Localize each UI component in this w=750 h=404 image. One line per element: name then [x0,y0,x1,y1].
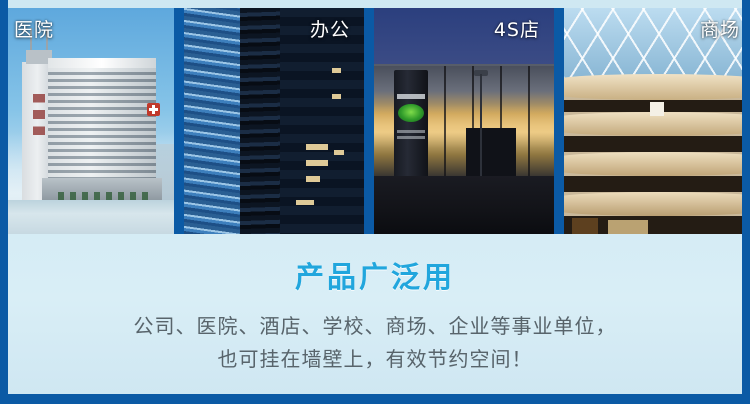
frame-rail-bottom [0,394,750,404]
frame-rail-left [0,0,8,404]
scenario-gallery: 医院 办公 [0,8,750,234]
gallery-panel-hospital[interactable]: 医院 [0,8,174,234]
gallery-panel-mall[interactable]: 商场 [564,8,750,234]
panel-label-hospital: 医院 [14,18,54,42]
hanging-sign-icon [650,102,664,116]
panel-divider [364,8,374,234]
promo-body-line-1: 公司、医院、酒店、学校、商场、企业等事业单位， [134,314,617,338]
balcony-band [564,192,750,216]
hospital-slab-cap [48,58,156,68]
lit-window-icon [306,176,320,182]
panel-divider [554,8,564,234]
brand-oval-logo-icon [398,104,424,122]
red-cross-icon [147,103,160,116]
balcony-band [564,74,750,100]
gallery-panel-dealership[interactable]: 4S店 [374,8,554,234]
lit-window-icon [306,160,328,166]
lit-window-icon [334,150,344,155]
panel-label-dealership: 4S店 [494,18,540,42]
promo-body-line-2: 也可挂在墙壁上，有效节约空间！ [218,347,533,371]
waterfront-layer [0,200,174,234]
forecourt-ground [374,176,554,234]
product-application-banner: 医院 办公 [0,0,750,404]
lit-window-icon [332,94,341,99]
panel-divider [174,8,184,234]
storefront-band [564,176,750,192]
brand-subtext-icon [397,130,425,142]
promo-content-area: 产品广泛用 公司、医院、酒店、学校、商场、企业等事业单位， 也可挂在墙壁上，有效… [8,234,742,394]
facade-mullion [444,66,446,180]
panel-label-office: 办公 [310,18,350,42]
facade-mullion [528,66,530,180]
lit-window-icon [296,200,314,205]
glass-facade-left [184,8,246,234]
brand-wordmark-icon [397,94,425,99]
street-lamp-pole-icon [480,74,482,190]
showroom-entrance [466,128,516,180]
lit-window-icon [306,144,328,150]
promo-body: 公司、医院、酒店、学校、商场、企业等事业单位， 也可挂在墙壁上，有效节约空间！ [8,296,742,376]
lit-window-icon [332,68,341,73]
shopfront-icon [572,218,598,234]
shopfront-icon [608,220,648,234]
gallery-panel-office[interactable]: 办公 [184,8,364,234]
frame-rail-right [742,0,750,404]
storefront-band [564,136,750,152]
panel-label-mall: 商场 [700,18,740,42]
service-core-facade [240,8,282,234]
top-light-band [0,0,750,8]
balcony-band [564,152,750,176]
promo-headline: 产品广泛用 [8,234,742,296]
building-signage-icon [33,94,45,148]
